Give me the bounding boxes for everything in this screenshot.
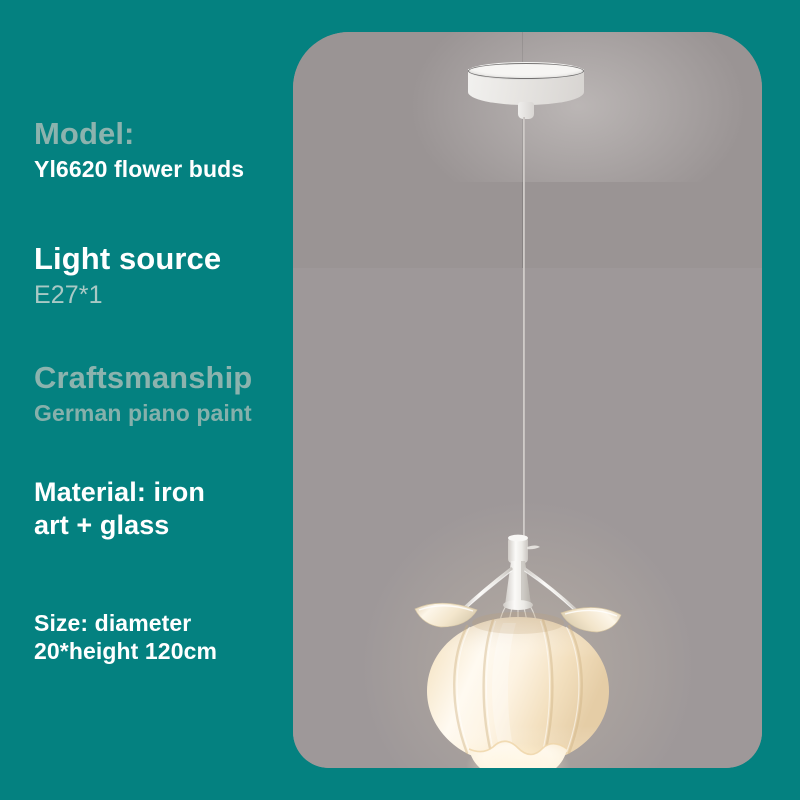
spec-label-light-source: Light source <box>34 243 290 276</box>
product-photo <box>293 32 762 768</box>
spec-item-light-source: Light source E27*1 <box>34 243 290 308</box>
spec-item-size: Size: diameter 20*height 120cm <box>34 611 290 664</box>
product-spec-card: Model: Yl6620 flower buds Light source E… <box>0 0 800 800</box>
spec-value-size: 20*height 120cm <box>34 639 290 663</box>
spec-label-craftsmanship: Craftsmanship <box>34 362 290 395</box>
ceiling-canopy-icon <box>468 62 584 110</box>
lamp-socket-icon <box>508 535 540 563</box>
lamp-collar <box>503 600 533 610</box>
spec-value-material: art + glass <box>34 511 290 540</box>
canopy-rim <box>468 63 584 79</box>
spec-value-craftsmanship: German piano paint <box>34 401 290 425</box>
spec-label-material: Material: iron <box>34 478 290 507</box>
shade-top-shadow <box>472 612 564 634</box>
spec-item-material: Material: iron art + glass <box>34 478 290 539</box>
spec-list: Model: Yl6620 flower buds Light source E… <box>0 0 290 800</box>
spec-item-model: Model: Yl6620 flower buds <box>34 118 290 181</box>
canopy-cord-grip <box>518 102 534 119</box>
spec-item-craftsmanship: Craftsmanship German piano paint <box>34 362 290 425</box>
suspension-cord-icon <box>523 117 525 542</box>
spec-value-light-source: E27*1 <box>34 282 290 309</box>
spec-value-model: Yl6620 flower buds <box>34 157 290 181</box>
leaf-petal-icon <box>415 603 477 627</box>
spec-label-model: Model: <box>34 118 290 151</box>
flower-bud-shade-icon <box>405 527 655 768</box>
spec-label-size: Size: diameter <box>34 611 290 635</box>
